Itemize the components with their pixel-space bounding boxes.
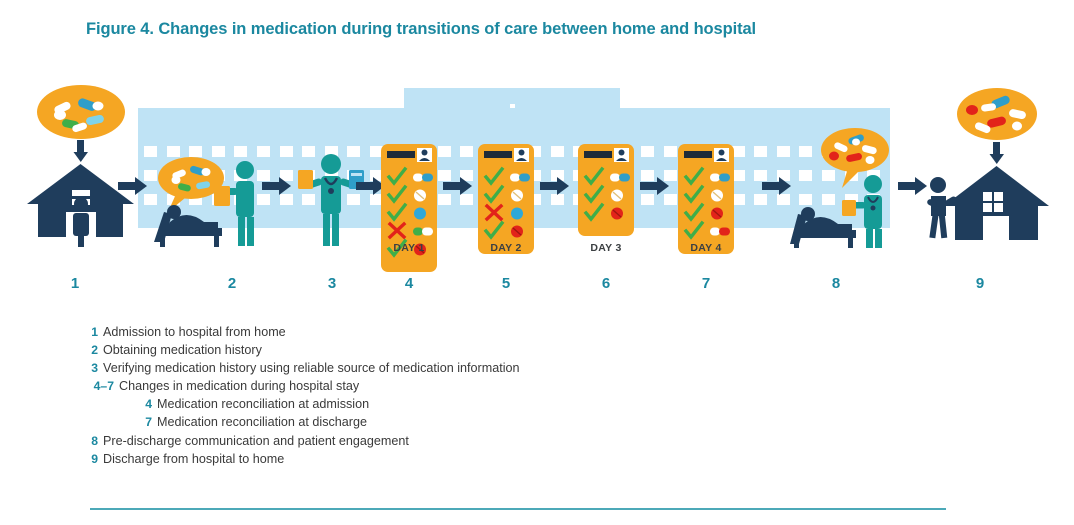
check-icon [684, 204, 704, 222]
bottom-divider [90, 508, 946, 510]
chart-row-pill [609, 170, 631, 184]
chart-row-mark [387, 222, 407, 240]
step-number-5: 5 [486, 275, 526, 292]
legend-item: 1Admission to hospital from home [86, 326, 726, 339]
patient-photo-icon [614, 148, 629, 162]
down-arrow-icon [74, 140, 89, 162]
chart-row-pill [412, 170, 434, 184]
chart-header-bar [584, 151, 612, 158]
chart-row-mark [387, 186, 407, 204]
pill-capsule-white-red [709, 224, 731, 238]
legend-item-number: 2 [86, 344, 98, 356]
pill-bubble-icon [37, 85, 125, 139]
step-number-6: 6 [586, 275, 626, 292]
walking-person-icon [926, 177, 957, 238]
pill-capsule-white-blue [509, 170, 531, 184]
chart-row-pill [709, 188, 731, 202]
arrow-right-icon-2 [262, 176, 292, 196]
legend-item-text: Medication reconciliation at discharge [157, 416, 367, 429]
chart-row-pill [509, 170, 531, 184]
pill-capsule-white-blue [412, 170, 434, 184]
hospital-window [777, 146, 790, 157]
chart-row-pill [709, 206, 731, 220]
step-number-3: 3 [312, 275, 352, 292]
legend-item-number: 9 [86, 453, 98, 465]
chart-row-mark [584, 204, 604, 222]
hospital-window [664, 146, 677, 157]
step-number-2: 2 [212, 275, 252, 292]
chart-header-bar [387, 151, 415, 158]
day-label: DAY 1 [379, 242, 439, 254]
hospital-window [551, 146, 564, 157]
legend-item: 7Medication reconciliation at discharge [140, 416, 726, 429]
pill-round-red [609, 206, 631, 220]
arrow-right-icon-4 [443, 176, 473, 196]
chart-row-mark [684, 186, 704, 204]
legend-item-text: Discharge from hospital to home [103, 453, 284, 466]
chart-row-mark [684, 168, 704, 186]
medication-chart-card[interactable] [678, 144, 734, 254]
medication-chart-card[interactable] [578, 144, 634, 236]
legend-item: 2Obtaining medication history [86, 344, 726, 357]
legend-item-text: Verifying medication history using relia… [103, 362, 520, 375]
chart-row-mark [684, 204, 704, 222]
step-number-7: 7 [686, 275, 726, 292]
day-label: DAY 3 [576, 242, 636, 254]
legend-item-text: Changes in medication during hospital st… [119, 380, 359, 393]
hospital-window [460, 146, 473, 157]
check-icon [584, 204, 604, 222]
patient-photo-icon [714, 148, 729, 162]
chart-row-pill [412, 206, 434, 220]
chart-row-pill [609, 188, 631, 202]
medication-chart-card[interactable] [478, 144, 534, 254]
check-icon [387, 186, 407, 204]
step-number-9: 9 [960, 275, 1000, 292]
patient-photo-icon [514, 148, 529, 162]
chart-row-mark [387, 168, 407, 186]
arrow-right-icon-8 [898, 176, 928, 196]
person-icon [73, 197, 89, 247]
step-number-1: 1 [55, 275, 95, 292]
hospital-window [754, 146, 767, 157]
orange-document-icon [842, 200, 856, 216]
chart-row-mark [484, 222, 504, 240]
chart-row-pill [412, 224, 434, 238]
pill-round-white [609, 188, 631, 202]
check-icon [387, 168, 407, 186]
chart-row-mark [584, 186, 604, 204]
page-title: Figure 4. Changes in medication during t… [86, 20, 986, 39]
step-8-pre-discharge [790, 118, 905, 248]
step-number-4: 4 [389, 275, 429, 292]
check-icon [387, 204, 407, 222]
step-3-verifying-history [296, 148, 366, 248]
arrow-right-icon-1 [118, 176, 148, 196]
legend-item: 4Medication reconciliation at admission [140, 398, 726, 411]
day-label: DAY 4 [676, 242, 736, 254]
pill-bubble-icon [957, 88, 1037, 140]
chart-row-mark [484, 186, 504, 204]
legend-item: 8Pre-discharge communication and patient… [86, 435, 726, 448]
chart-row-mark [484, 168, 504, 186]
pill-round-red [709, 206, 731, 220]
check-icon [684, 186, 704, 204]
chart-row-pill [609, 206, 631, 220]
hospital-window [641, 146, 654, 157]
legend-item-number: 4–7 [86, 380, 114, 392]
pill-capsule-white-blue [709, 170, 731, 184]
clinician-icon [298, 154, 364, 246]
legend-item-number: 8 [86, 435, 98, 447]
legend-item-number: 3 [86, 362, 98, 374]
arrow-right-icon-6 [640, 176, 670, 196]
legend-item-number: 7 [140, 416, 152, 428]
chart-row-mark [387, 204, 407, 222]
check-icon [484, 222, 504, 240]
day-label: DAY 2 [476, 242, 536, 254]
pill-round-white [709, 188, 731, 202]
cross-icon [484, 204, 504, 222]
legend-item-text: Medication reconciliation at admission [157, 398, 369, 411]
chart-row-pill [709, 170, 731, 184]
pill-round-red [509, 224, 531, 238]
step-1-home-admission [26, 82, 136, 247]
step-2-obtaining-history [152, 142, 262, 247]
hospital-bed-icon [154, 205, 222, 247]
pill-capsule-green-white [412, 224, 434, 238]
legend-item-text: Admission to hospital from home [103, 326, 286, 339]
arrow-right-icon-5 [540, 176, 570, 196]
chart-row-pill [709, 224, 731, 238]
legend-item: 3Verifying medication history using reli… [86, 362, 726, 375]
legend-item-text: Pre-discharge communication and patient … [103, 435, 409, 448]
chart-row-mark [484, 204, 504, 222]
chart-row-pill [509, 188, 531, 202]
chart-row-mark [684, 222, 704, 240]
chart-row-pill [509, 224, 531, 238]
legend-list: 1Admission to hospital from home2Obtaini… [86, 326, 726, 471]
step-9-discharge-home [925, 80, 1050, 250]
hospital-window [280, 146, 293, 157]
cross-icon [387, 222, 407, 240]
legend-item: 9Discharge from hospital to home [86, 453, 726, 466]
hospital-window [438, 146, 451, 157]
pill-capsule-white-blue [609, 170, 631, 184]
check-icon [484, 186, 504, 204]
down-arrow-icon [990, 142, 1005, 164]
pill-round-blue [509, 206, 531, 220]
chart-header-bar [684, 151, 712, 158]
legend-item-number: 4 [140, 398, 152, 410]
patient-photo-icon [417, 148, 432, 162]
arrow-right-icon-7 [762, 176, 792, 196]
step-number-8: 8 [816, 275, 856, 292]
chart-row-pill [412, 188, 434, 202]
check-icon [584, 168, 604, 186]
diagram-stage: DAY 1DAY 2DAY 3DAY 4 123456789 [0, 60, 1074, 300]
legend-item: 4–7Changes in medication during hospital… [86, 380, 726, 393]
pill-round-white [509, 188, 531, 202]
chart-row-pill [509, 206, 531, 220]
check-icon [584, 186, 604, 204]
house-icon [944, 166, 1049, 240]
orange-document-icon [298, 170, 313, 189]
chart-row-mark [584, 168, 604, 186]
pill-round-blue [412, 206, 434, 220]
check-icon [484, 168, 504, 186]
legend-item-number: 1 [86, 326, 98, 338]
legend-item-text: Obtaining medication history [103, 344, 262, 357]
chart-header-bar [484, 151, 512, 158]
pill-round-white [412, 188, 434, 202]
check-icon [684, 168, 704, 186]
check-icon [684, 222, 704, 240]
